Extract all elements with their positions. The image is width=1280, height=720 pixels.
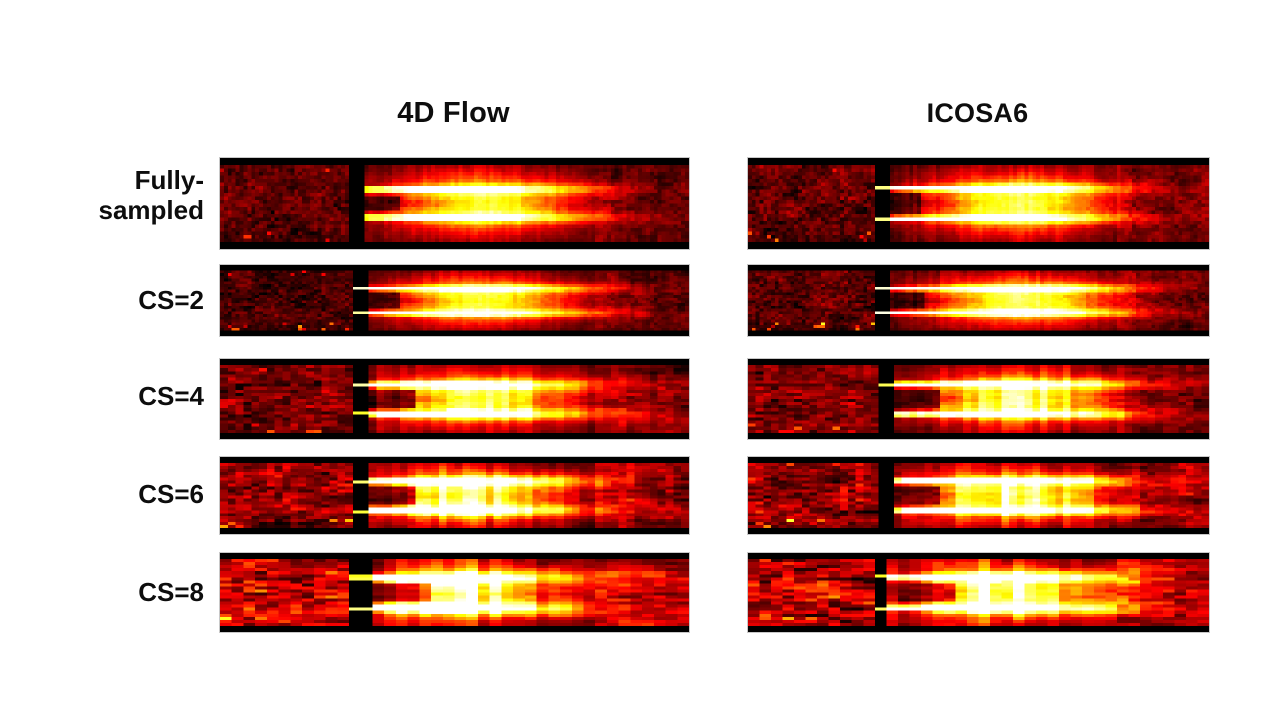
- row-label-cs-2: CS=2: [138, 286, 204, 316]
- heatmap-canvas: [748, 359, 1209, 439]
- figure-root: 4D Flow ICOSA6 Fully- sampled CS=2 CS=4 …: [0, 0, 1280, 720]
- heatmap-canvas: [748, 158, 1209, 249]
- row-label-cs-6: CS=6: [138, 480, 204, 510]
- panel-cs-4-icosa6: [747, 358, 1210, 440]
- panel-fully-sampled-4d-flow: [219, 157, 690, 250]
- heatmap-canvas: [220, 265, 689, 336]
- column-header-4d-flow: 4D Flow: [219, 99, 688, 128]
- panel-cs-4-4d-flow: [219, 358, 690, 440]
- heatmap-canvas: [220, 158, 689, 249]
- panel-cs-8-4d-flow: [219, 552, 690, 633]
- panel-cs-6-4d-flow: [219, 456, 690, 535]
- row-label-fully-sampled: Fully- sampled: [99, 166, 205, 225]
- column-header-icosa6: ICOSA6: [747, 100, 1208, 127]
- panel-cs-8-icosa6: [747, 552, 1210, 633]
- row-label-cs-8: CS=8: [138, 578, 204, 608]
- panel-cs-2-icosa6: [747, 264, 1210, 337]
- heatmap-canvas: [748, 457, 1209, 534]
- row-label-cs-4: CS=4: [138, 382, 204, 412]
- panel-cs-2-4d-flow: [219, 264, 690, 337]
- panel-cs-6-icosa6: [747, 456, 1210, 535]
- heatmap-canvas: [748, 553, 1209, 632]
- heatmap-canvas: [748, 265, 1209, 336]
- panel-fully-sampled-icosa6: [747, 157, 1210, 250]
- heatmap-canvas: [220, 553, 689, 632]
- heatmap-canvas: [220, 457, 689, 534]
- heatmap-canvas: [220, 359, 689, 439]
